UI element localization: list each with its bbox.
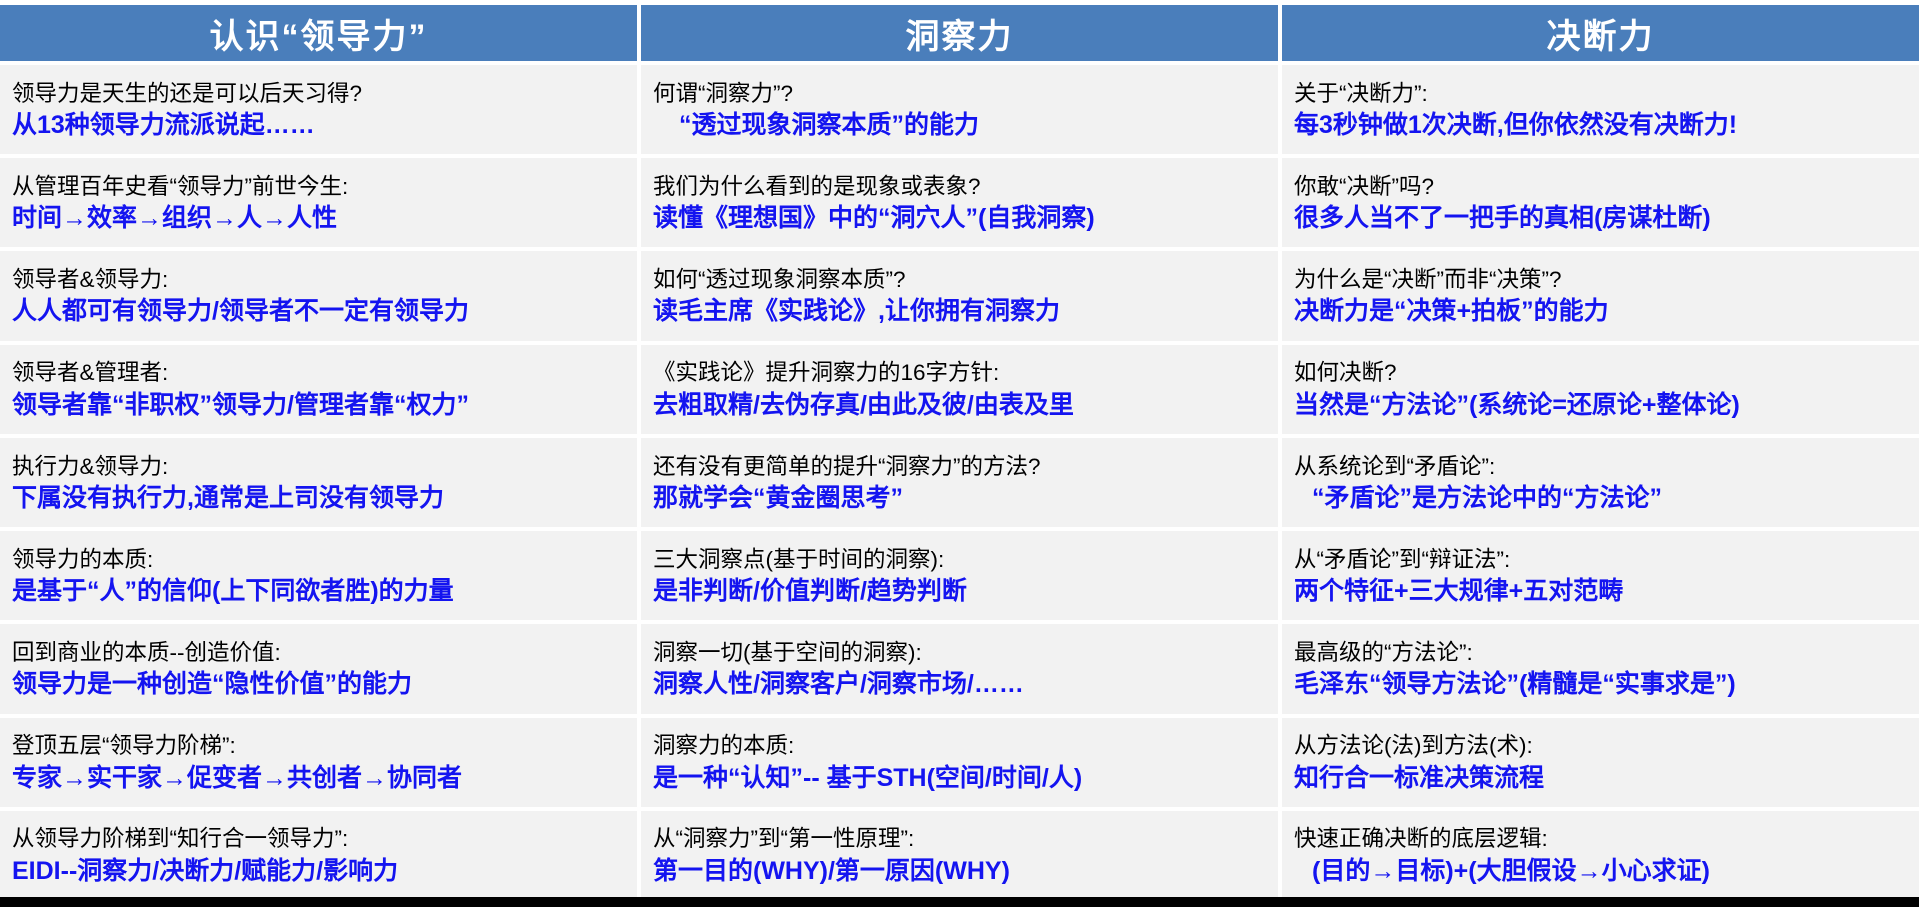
table-row[interactable]: 还有没有更简单的提升“洞察力”的方法? 那就学会“黄金圈思考” bbox=[641, 438, 1278, 531]
row-answer: 当然是“方法论”(系统论=还原论+整体论) bbox=[1294, 390, 1909, 422]
row-answer: 很多人当不了一把手的真相(房谋杜断) bbox=[1294, 203, 1909, 235]
row-question: 领导者&管理者: bbox=[12, 359, 627, 387]
table-row[interactable]: 从领导力阶梯到“知行合一领导力”: EIDI--洞察力/决断力/赋能力/影响力 bbox=[0, 811, 637, 900]
row-answer: 每3秒钟做1次决断,但你依然没有决断力! bbox=[1294, 110, 1909, 142]
row-question: 《实践论》提升洞察力的16字方针: bbox=[653, 359, 1268, 387]
bottom-bar bbox=[0, 897, 1919, 907]
row-answer: 两个特征+三大规律+五对范畴 bbox=[1294, 576, 1909, 608]
table-row[interactable]: 从“洞察力”到“第一性原理”: 第一目的(WHY)/第一原因(WHY) bbox=[641, 811, 1278, 900]
row-question: 从“洞察力”到“第一性原理”: bbox=[653, 825, 1268, 853]
table-row[interactable]: 从“矛盾论”到“辩证法”: 两个特征+三大规律+五对范畴 bbox=[1282, 531, 1919, 624]
row-question: 三大洞察点(基于时间的洞察): bbox=[653, 546, 1268, 574]
table-row[interactable]: 快速正确决断的底层逻辑: (目的→目标)+(大胆假设→小心求证) bbox=[1282, 811, 1919, 900]
row-question: 洞察一切(基于空间的洞察): bbox=[653, 639, 1268, 667]
row-question: 从方法论(法)到方法(术): bbox=[1294, 732, 1909, 760]
row-question: 登顶五层“领导力阶梯”: bbox=[12, 732, 627, 760]
row-answer: 洞察人性/洞察客户/洞察市场/…… bbox=[653, 669, 1268, 701]
row-question: 回到商业的本质--创造价值: bbox=[12, 639, 627, 667]
column-rows-insight: 何谓“洞察力”? “透过现象洞察本质”的能力 我们为什么看到的是现象或表象? 读… bbox=[641, 61, 1278, 900]
columns-container: 认识“领导力” 领导力是天生的还是可以后天习得? 从13种领导力流派说起…… 从… bbox=[0, 0, 1919, 900]
column-header-insight: 洞察力 bbox=[641, 5, 1278, 61]
row-question: 快速正确决断的底层逻辑: bbox=[1294, 825, 1909, 853]
table-row[interactable]: 为什么是“决断”而非“决策”? 决断力是“决策+拍板”的能力 bbox=[1282, 251, 1919, 344]
table-row[interactable]: 何谓“洞察力”? “透过现象洞察本质”的能力 bbox=[641, 65, 1278, 158]
row-answer: 时间→效率→组织→人→人性 bbox=[12, 203, 627, 235]
row-question: 为什么是“决断”而非“决策”? bbox=[1294, 266, 1909, 294]
row-answer: 读懂《理想国》中的“洞穴人”(自我洞察) bbox=[653, 203, 1268, 235]
table-row[interactable]: 如何“透过现象洞察本质”? 读毛主席《实践论》,让你拥有洞察力 bbox=[641, 251, 1278, 344]
table-row[interactable]: 登顶五层“领导力阶梯”: 专家→实干家→促变者→共创者→协同者 bbox=[0, 718, 637, 811]
row-answer: (目的→目标)+(大胆假设→小心求证) bbox=[1294, 856, 1909, 888]
row-answer: 领导力是一种创造“隐性价值”的能力 bbox=[12, 669, 627, 701]
table-row[interactable]: 关于“决断力”: 每3秒钟做1次决断,但你依然没有决断力! bbox=[1282, 65, 1919, 158]
row-question: 你敢“决断”吗? bbox=[1294, 173, 1909, 201]
column-header-decisiveness: 决断力 bbox=[1282, 5, 1919, 61]
row-question: 从管理百年史看“领导力”前世今生: bbox=[12, 173, 627, 201]
row-question: 还有没有更简单的提升“洞察力”的方法? bbox=[653, 453, 1268, 481]
table-row[interactable]: 领导者&领导力: 人人都可有领导力/领导者不一定有领导力 bbox=[0, 251, 637, 344]
table-row[interactable]: 领导力的本质: 是基于“人”的信仰(上下同欲者胜)的力量 bbox=[0, 531, 637, 624]
row-question: 我们为什么看到的是现象或表象? bbox=[653, 173, 1268, 201]
row-answer: EIDI--洞察力/决断力/赋能力/影响力 bbox=[12, 856, 627, 888]
row-answer: 是一种“认知”-- 基于STH(空间/时间/人) bbox=[653, 763, 1268, 795]
table-row[interactable]: 从管理百年史看“领导力”前世今生: 时间→效率→组织→人→人性 bbox=[0, 158, 637, 251]
row-answer: 是非判断/价值判断/趋势判断 bbox=[653, 576, 1268, 608]
row-question: 领导力是天生的还是可以后天习得? bbox=[12, 80, 627, 108]
row-answer: 从13种领导力流派说起…… bbox=[12, 110, 627, 142]
row-answer: 下属没有执行力,通常是上司没有领导力 bbox=[12, 483, 627, 515]
row-question: 最高级的“方法论”: bbox=[1294, 639, 1909, 667]
table-row[interactable]: 执行力&领导力: 下属没有执行力,通常是上司没有领导力 bbox=[0, 438, 637, 531]
table-row[interactable]: 你敢“决断”吗? 很多人当不了一把手的真相(房谋杜断) bbox=[1282, 158, 1919, 251]
row-answer: “透过现象洞察本质”的能力 bbox=[653, 110, 1268, 142]
row-question: 从系统论到“矛盾论”: bbox=[1294, 453, 1909, 481]
table-row[interactable]: 从系统论到“矛盾论”: “矛盾论”是方法论中的“方法论” bbox=[1282, 438, 1919, 531]
table-row[interactable]: 从方法论(法)到方法(术): 知行合一标准决策流程 bbox=[1282, 718, 1919, 811]
column-insight: 洞察力 何谓“洞察力”? “透过现象洞察本质”的能力 我们为什么看到的是现象或表… bbox=[641, 5, 1278, 900]
row-question: 如何决断? bbox=[1294, 359, 1909, 387]
table-row[interactable]: 回到商业的本质--创造价值: 领导力是一种创造“隐性价值”的能力 bbox=[0, 624, 637, 717]
row-answer: 去粗取精/去伪存真/由此及彼/由表及里 bbox=[653, 390, 1268, 422]
row-question: 何谓“洞察力”? bbox=[653, 80, 1268, 108]
row-answer: 人人都可有领导力/领导者不一定有领导力 bbox=[12, 296, 627, 328]
row-question: 如何“透过现象洞察本质”? bbox=[653, 266, 1268, 294]
table-row[interactable]: 领导力是天生的还是可以后天习得? 从13种领导力流派说起…… bbox=[0, 65, 637, 158]
column-decisiveness: 决断力 关于“决断力”: 每3秒钟做1次决断,但你依然没有决断力! 你敢“决断”… bbox=[1282, 5, 1919, 900]
table-row[interactable]: 最高级的“方法论”: 毛泽东“领导方法论”(精髓是“实事求是”) bbox=[1282, 624, 1919, 717]
row-answer: 毛泽东“领导方法论”(精髓是“实事求是”) bbox=[1294, 669, 1909, 701]
row-question: 领导者&领导力: bbox=[12, 266, 627, 294]
row-answer: 专家→实干家→促变者→共创者→协同者 bbox=[12, 763, 627, 795]
row-answer: 决断力是“决策+拍板”的能力 bbox=[1294, 296, 1909, 328]
table-row[interactable]: 洞察一切(基于空间的洞察): 洞察人性/洞察客户/洞察市场/…… bbox=[641, 624, 1278, 717]
column-header-leadership: 认识“领导力” bbox=[0, 5, 637, 61]
row-answer: “矛盾论”是方法论中的“方法论” bbox=[1294, 483, 1909, 515]
row-question: 关于“决断力”: bbox=[1294, 80, 1909, 108]
column-rows-decisiveness: 关于“决断力”: 每3秒钟做1次决断,但你依然没有决断力! 你敢“决断”吗? 很… bbox=[1282, 61, 1919, 900]
table-row[interactable]: 我们为什么看到的是现象或表象? 读懂《理想国》中的“洞穴人”(自我洞察) bbox=[641, 158, 1278, 251]
row-answer: 是基于“人”的信仰(上下同欲者胜)的力量 bbox=[12, 576, 627, 608]
row-answer: 领导者靠“非职权”领导力/管理者靠“权力” bbox=[12, 390, 627, 422]
row-question: 从领导力阶梯到“知行合一领导力”: bbox=[12, 825, 627, 853]
row-question: 执行力&领导力: bbox=[12, 453, 627, 481]
table-row[interactable]: 《实践论》提升洞察力的16字方针: 去粗取精/去伪存真/由此及彼/由表及里 bbox=[641, 345, 1278, 438]
column-rows-leadership: 领导力是天生的还是可以后天习得? 从13种领导力流派说起…… 从管理百年史看“领… bbox=[0, 61, 637, 900]
row-answer: 第一目的(WHY)/第一原因(WHY) bbox=[653, 856, 1268, 888]
table-row[interactable]: 三大洞察点(基于时间的洞察): 是非判断/价值判断/趋势判断 bbox=[641, 531, 1278, 624]
table-row[interactable]: 洞察力的本质: 是一种“认知”-- 基于STH(空间/时间/人) bbox=[641, 718, 1278, 811]
table-row[interactable]: 如何决断? 当然是“方法论”(系统论=还原论+整体论) bbox=[1282, 345, 1919, 438]
column-leadership: 认识“领导力” 领导力是天生的还是可以后天习得? 从13种领导力流派说起…… 从… bbox=[0, 5, 637, 900]
row-question: 领导力的本质: bbox=[12, 546, 627, 574]
row-question: 洞察力的本质: bbox=[653, 732, 1268, 760]
table-row[interactable]: 领导者&管理者: 领导者靠“非职权”领导力/管理者靠“权力” bbox=[0, 345, 637, 438]
slide-root: 认识“领导力” 领导力是天生的还是可以后天习得? 从13种领导力流派说起…… 从… bbox=[0, 0, 1919, 907]
row-answer: 知行合一标准决策流程 bbox=[1294, 763, 1909, 795]
row-answer: 读毛主席《实践论》,让你拥有洞察力 bbox=[653, 296, 1268, 328]
row-answer: 那就学会“黄金圈思考” bbox=[653, 483, 1268, 515]
row-question: 从“矛盾论”到“辩证法”: bbox=[1294, 546, 1909, 574]
